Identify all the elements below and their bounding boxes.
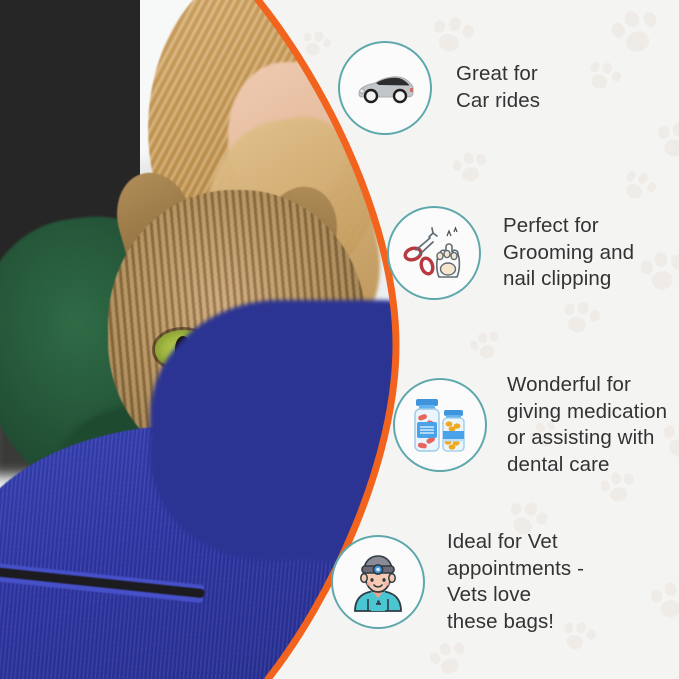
feature-item-vet: Ideal for Vet appointments - Vets love t… xyxy=(331,529,584,636)
veterinarian-icon xyxy=(331,535,425,629)
feature-item-medication: Wonderful for giving medication or assis… xyxy=(393,372,667,479)
feature-list: Great for Car rides xyxy=(0,0,679,679)
feature-item-car-rides: Great for Car rides xyxy=(338,41,540,135)
feature-label-car-rides: Great for Car rides xyxy=(456,61,540,114)
nail-clippers-paw-icon xyxy=(387,206,481,300)
feature-label-vet: Ideal for Vet appointments - Vets love t… xyxy=(447,529,584,636)
car-icon xyxy=(338,41,432,135)
feature-label-medication: Wonderful for giving medication or assis… xyxy=(507,372,667,479)
feature-item-grooming: Perfect for Grooming and nail clipping xyxy=(387,206,634,300)
infographic-canvas: Great for Car rides xyxy=(0,0,679,679)
medicine-bottles-icon xyxy=(393,378,487,472)
feature-label-grooming: Perfect for Grooming and nail clipping xyxy=(503,213,634,293)
